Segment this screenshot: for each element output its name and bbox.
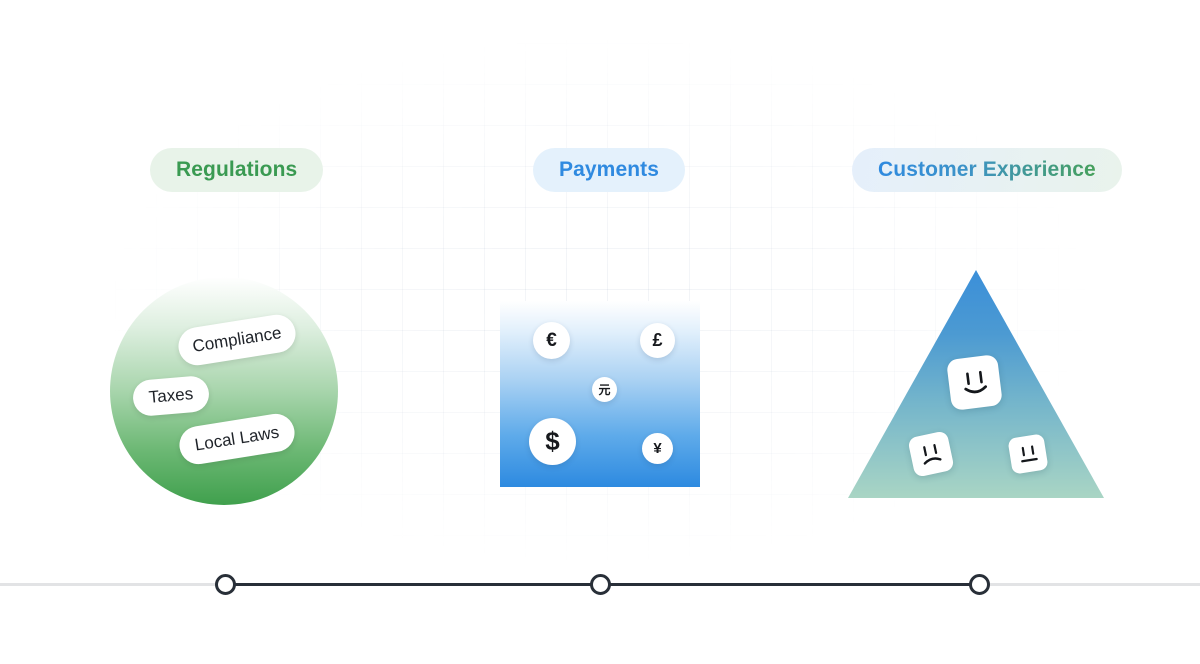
pound-symbol-glyph: £ — [652, 330, 662, 351]
timeline[interactable] — [0, 556, 1200, 614]
face-happy-icon[interactable] — [946, 354, 1003, 411]
tag-compliance-label: Compliance — [191, 323, 283, 357]
section-title-regulations[interactable]: Regulations — [150, 148, 323, 192]
dollar-symbol-glyph: $ — [545, 426, 559, 457]
section-title-payments-label: Payments — [559, 158, 659, 182]
pound-symbol-icon[interactable]: £ — [640, 323, 675, 358]
timeline-node-3[interactable] — [969, 574, 990, 595]
timeline-rail-inactive-left — [0, 583, 225, 586]
timeline-rail-inactive-right — [979, 583, 1200, 586]
section-title-customer-experience[interactable]: Customer Experience — [852, 148, 1122, 192]
timeline-node-1[interactable] — [215, 574, 236, 595]
yen-symbol-glyph: ¥ — [653, 440, 661, 457]
timeline-node-2[interactable] — [590, 574, 611, 595]
face-sad-glyph — [912, 435, 950, 473]
section-title-regulations-label: Regulations — [176, 158, 297, 182]
face-happy-glyph — [952, 360, 997, 405]
face-neutral-icon[interactable] — [1007, 433, 1048, 474]
face-sad-icon[interactable] — [907, 430, 954, 477]
euro-symbol-glyph: € — [546, 330, 557, 352]
section-title-payments[interactable]: Payments — [533, 148, 685, 192]
tag-taxes-label: Taxes — [148, 384, 194, 408]
infographic-canvas: Regulations Payments Customer Experience… — [0, 0, 1200, 664]
section-title-customer-experience-label: Customer Experience — [878, 158, 1096, 182]
tag-local-laws-label: Local Laws — [193, 422, 280, 455]
yuan-symbol-glyph: 元 — [598, 381, 610, 398]
euro-symbol-icon[interactable]: € — [533, 322, 570, 359]
face-neutral-glyph — [1011, 437, 1044, 470]
yuan-symbol-icon[interactable]: 元 — [592, 377, 617, 402]
dollar-symbol-icon[interactable]: $ — [529, 418, 576, 465]
yen-symbol-icon[interactable]: ¥ — [642, 433, 673, 464]
